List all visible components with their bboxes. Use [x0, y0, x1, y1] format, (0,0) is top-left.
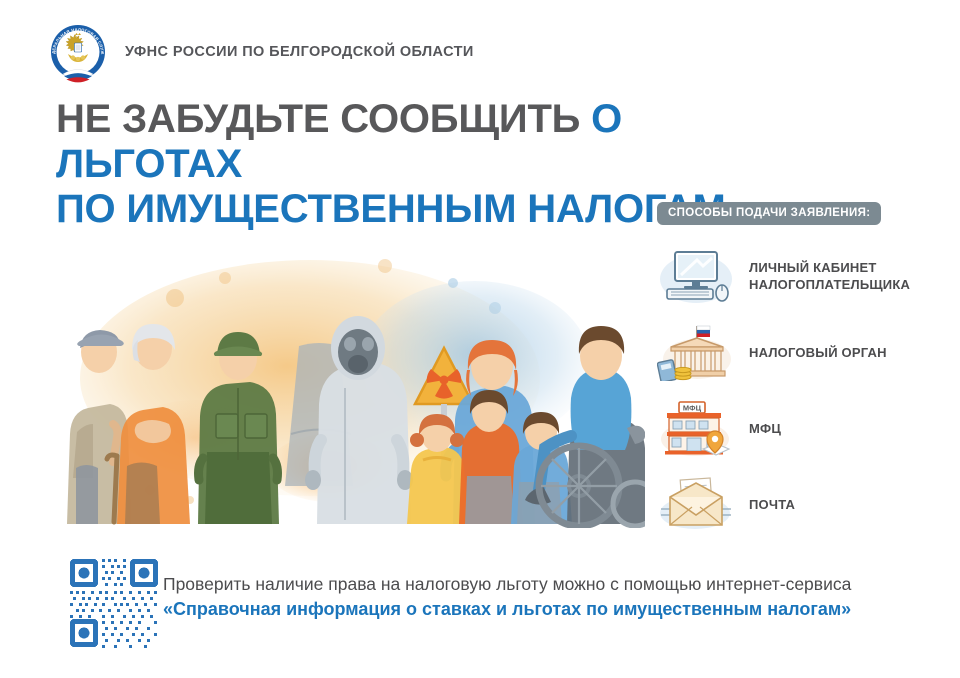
page-title: НЕ ЗАБУДЬТЕ СООБЩИТЬ О ЛЬГОТАХ ПО ИМУЩЕС… [56, 97, 756, 232]
method-label: ПОЧТА [749, 496, 795, 513]
method-label: ЛИЧНЫЙ КАБИНЕТ НАЛОГОПЛАТЕЛЬЩИКА [749, 259, 910, 293]
method-item-tax-authority[interactable]: НАЛОГОВЫЙ ОРГАН [657, 323, 947, 381]
headline-line-1: НЕ ЗАБУДЬТЕ СООБЩИТЬ О ЛЬГОТАХ [56, 97, 756, 187]
method-label: НАЛОГОВЫЙ ОРГАН [749, 344, 887, 361]
svg-text:МФЦ: МФЦ [683, 404, 702, 413]
organization-name: УФНС РОССИИ ПО БЕЛГОРОДСКОЙ ОБЛАСТИ [125, 44, 474, 60]
submission-methods-panel: СПОСОБЫ ПОДАЧИ ЗАЯВЛЕНИЯ: [657, 202, 947, 533]
footer-line-2: «Справочная информация о ставках и льгот… [163, 597, 923, 622]
tax-authority-building-icon [657, 323, 735, 381]
personal-account-computer-icon [657, 247, 735, 305]
federal-tax-service-emblem-icon: ФЕДЕРАЛЬНАЯ НАЛОГОВАЯ СЛУЖБА [47, 18, 109, 86]
status-badge: СПОСОБЫ ПОДАЧИ ЗАЯВЛЕНИЯ: [657, 202, 881, 225]
watercolor-beneficiaries-illustration [55, 228, 645, 528]
qr-code[interactable] [68, 557, 160, 649]
footer-text: Проверить наличие права на налоговую льг… [163, 572, 923, 622]
method-label: МФЦ [749, 420, 781, 437]
method-item-post[interactable]: ПОЧТА [657, 475, 947, 533]
poster: ФЕДЕРАЛЬНАЯ НАЛОГОВАЯ СЛУЖБА [0, 0, 960, 678]
headline-part-dark: НЕ ЗАБУДЬТЕ СООБЩИТЬ [56, 97, 591, 141]
mfc-building-icon: МФЦ [657, 399, 735, 457]
method-item-personal-account[interactable]: ЛИЧНЫЙ КАБИНЕТ НАЛОГОПЛАТЕЛЬЩИКА [657, 247, 947, 305]
headline-line-2: ПО ИМУЩЕСТВЕННЫМ НАЛОГАМ [56, 187, 756, 232]
method-item-mfc[interactable]: МФЦ [657, 399, 947, 457]
footer-line-1: Проверить наличие права на налоговую льг… [163, 572, 923, 597]
post-envelope-icon [657, 475, 735, 533]
header: ФЕДЕРАЛЬНАЯ НАЛОГОВАЯ СЛУЖБА [47, 18, 474, 86]
